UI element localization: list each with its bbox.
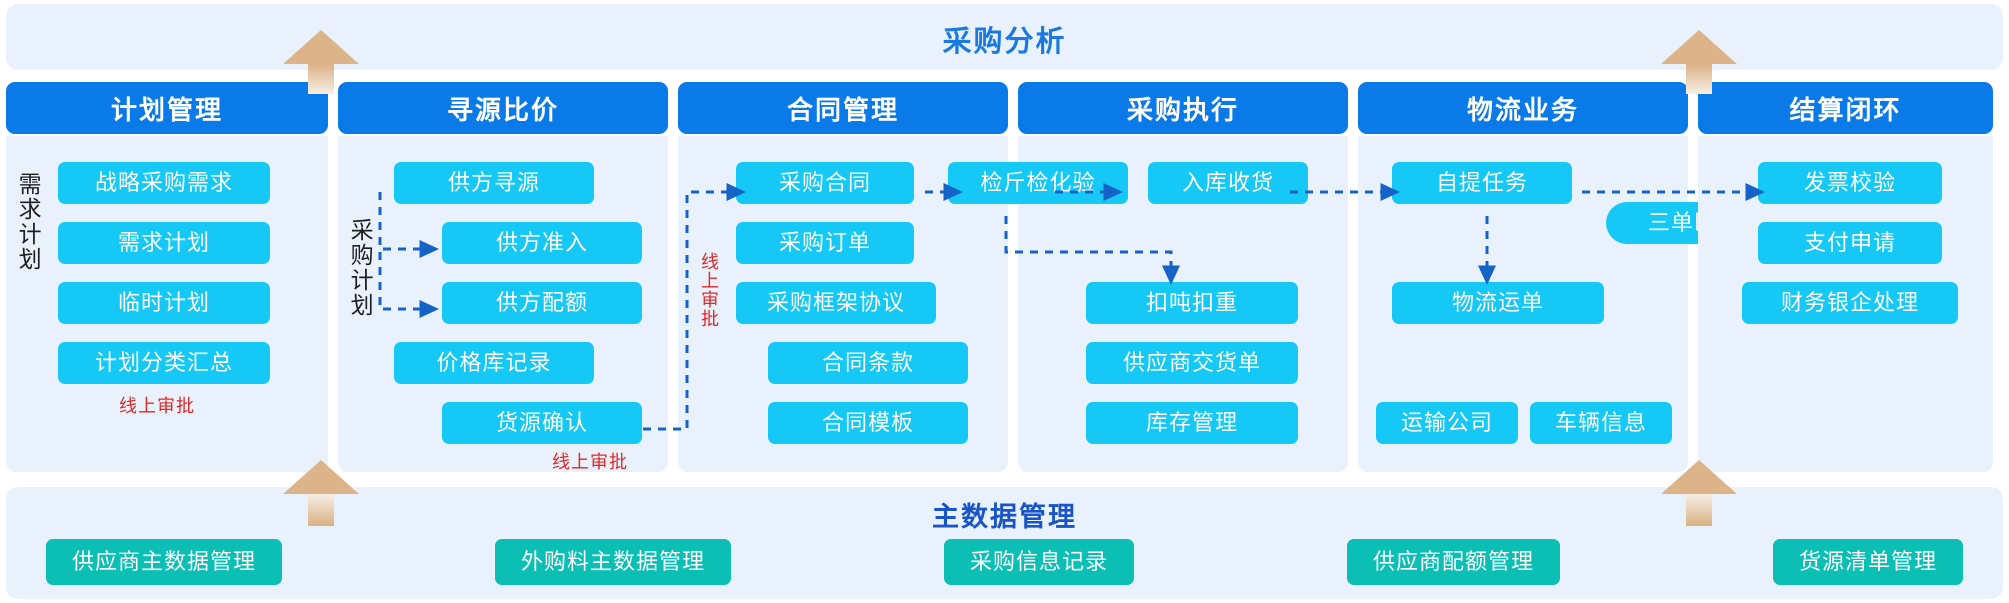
chip-ton-weight-deduction[interactable]: 扣吨扣重 xyxy=(1086,282,1298,324)
chip-purchase-contract[interactable]: 采购合同 xyxy=(736,162,914,204)
chip-invoice-verification[interactable]: 发票校验 xyxy=(1758,162,1942,204)
arrow-head-icon xyxy=(283,30,359,64)
chip-inspection-weighing-test[interactable]: 检斤检化验 xyxy=(948,162,1128,204)
chip-source-confirmation[interactable]: 货源确认 xyxy=(442,402,642,444)
process-columns: 计划管理 需求计划 战略采购需求 需求计划 临时计划 计划分类汇总 线上审批 寻… xyxy=(6,82,2003,472)
chip-self-pickup-task[interactable]: 自提任务 xyxy=(1392,162,1572,204)
chip-vehicle-info[interactable]: 车辆信息 xyxy=(1530,402,1672,444)
chip-logistics-waybill[interactable]: 物流运单 xyxy=(1392,282,1604,324)
column-contract-management: 合同管理 线上审批 采购合同 采购订单 采购框架协议 合同条款 合同模板 xyxy=(678,82,1008,472)
up-arrow-left-top xyxy=(283,30,359,88)
arrow-head-icon xyxy=(1661,460,1737,494)
note-online-approval-sourcing: 线上审批 xyxy=(552,448,628,474)
column-header-contract: 合同管理 xyxy=(678,82,1008,134)
chip-purchase-order[interactable]: 采购订单 xyxy=(736,222,914,264)
column-body-execution: 检斤检化验 入库收货 扣吨扣重 供应商交货单 库存管理 xyxy=(1018,136,1348,472)
column-body-logistics: 自提任务 物流运单 运输公司 车辆信息 三单匹配 xyxy=(1358,136,1688,472)
arrow-head-icon xyxy=(1661,30,1737,64)
chip-contract-template[interactable]: 合同模板 xyxy=(768,402,968,444)
column-body-sourcing: 采购计划 供方寻源 供方准入 供方配额 价格库记录 货源确认 线上审批 xyxy=(338,136,668,472)
chip-supplier-delivery-note[interactable]: 供应商交货单 xyxy=(1086,342,1298,384)
column-procurement-execution: 采购执行 检斤检化验 入库收货 扣吨扣重 供应商交货单 库存管理 xyxy=(1018,82,1348,472)
arrow-shaft xyxy=(1686,494,1712,526)
up-arrow-right-top xyxy=(1661,30,1737,88)
chip-price-library-record[interactable]: 价格库记录 xyxy=(394,342,594,384)
column-settlement-closed-loop: 结算闭环 发票校验 支付申请 财务银企处理 xyxy=(1698,82,1993,472)
side-label-demand-plan: 需求计划 xyxy=(16,172,40,362)
chip-supplier-quota-management[interactable]: 供应商配额管理 xyxy=(1347,539,1560,585)
chip-supplier-quota[interactable]: 供方配额 xyxy=(442,282,642,324)
column-header-logistics: 物流业务 xyxy=(1358,82,1688,134)
arrow-shaft xyxy=(308,64,334,94)
column-header-settlement: 结算闭环 xyxy=(1698,82,1993,134)
chip-warehouse-receipt[interactable]: 入库收货 xyxy=(1148,162,1308,204)
arrow-shaft xyxy=(1686,64,1712,94)
column-body-plan-management: 需求计划 战略采购需求 需求计划 临时计划 计划分类汇总 线上审批 xyxy=(6,136,328,472)
chip-supplier-sourcing[interactable]: 供方寻源 xyxy=(394,162,594,204)
chip-purchased-material-master-data[interactable]: 外购料主数据管理 xyxy=(495,539,731,585)
chip-supplier-master-data[interactable]: 供应商主数据管理 xyxy=(46,539,282,585)
column-plan-management: 计划管理 需求计划 战略采购需求 需求计划 临时计划 计划分类汇总 线上审批 xyxy=(6,82,328,472)
chip-strategic-procurement-demand[interactable]: 战略采购需求 xyxy=(58,162,270,204)
chip-purchase-info-record[interactable]: 采购信息记录 xyxy=(944,539,1134,585)
chip-demand-plan[interactable]: 需求计划 xyxy=(58,222,270,264)
column-header-execution: 采购执行 xyxy=(1018,82,1348,134)
chip-plan-category-summary[interactable]: 计划分类汇总 xyxy=(58,342,270,384)
column-sourcing-price-comparison: 寻源比价 采购计划 供方寻源 供方准入 供方配额 价格库记录 货源确认 线上审批 xyxy=(338,82,668,472)
arrow-shaft xyxy=(308,494,334,526)
chip-contract-terms[interactable]: 合同条款 xyxy=(768,342,968,384)
arrow-head-icon xyxy=(283,460,359,494)
chip-supplier-admission[interactable]: 供方准入 xyxy=(442,222,642,264)
side-label-procurement-plan: 采购计划 xyxy=(348,218,372,408)
chip-transport-company[interactable]: 运输公司 xyxy=(1376,402,1518,444)
chip-payment-application[interactable]: 支付申请 xyxy=(1758,222,1942,264)
up-arrow-left-bottom xyxy=(283,460,359,520)
diagram-canvas: 采购分析 计划管理 需求计划 战略采购需求 需求计划 临时计划 计划分类汇总 线… xyxy=(0,0,2009,603)
note-online-approval-contract: 线上审批 xyxy=(700,252,718,328)
column-header-sourcing: 寻源比价 xyxy=(338,82,668,134)
chip-purchase-framework-agreement[interactable]: 采购框架协议 xyxy=(736,282,936,324)
note-online-approval-plan: 线上审批 xyxy=(119,392,195,418)
column-header-plan-management: 计划管理 xyxy=(6,82,328,134)
up-arrow-right-bottom xyxy=(1661,460,1737,520)
chip-source-list-management[interactable]: 货源清单管理 xyxy=(1773,539,1963,585)
chip-temporary-plan[interactable]: 临时计划 xyxy=(58,282,270,324)
master-data-chip-row: 供应商主数据管理 外购料主数据管理 采购信息记录 供应商配额管理 货源清单管理 xyxy=(46,539,1963,585)
column-logistics-business: 物流业务 自提任务 物流运单 运输公司 车辆信息 三单匹配 xyxy=(1358,82,1688,472)
column-body-settlement: 发票校验 支付申请 财务银企处理 xyxy=(1698,136,1993,472)
chip-finance-bank-enterprise[interactable]: 财务银企处理 xyxy=(1742,282,1958,324)
chip-inventory-management[interactable]: 库存管理 xyxy=(1086,402,1298,444)
